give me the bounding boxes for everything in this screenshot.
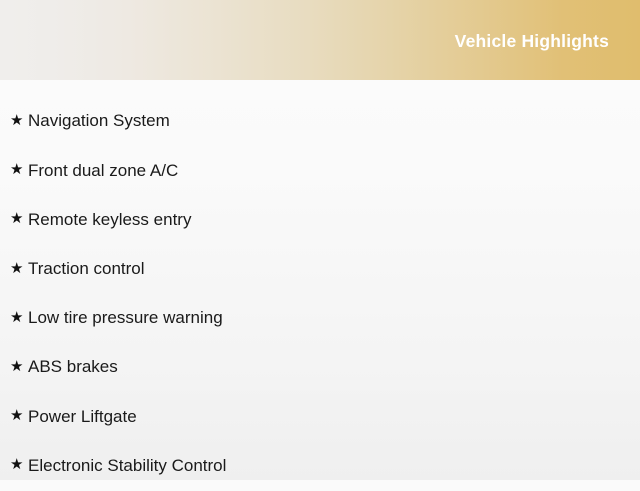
list-item: ★ Power Liftgate xyxy=(0,392,640,441)
list-item: ★ Navigation System xyxy=(0,97,640,146)
star-bullet-icon: ★ xyxy=(10,359,28,374)
list-item: ★ ABS brakes xyxy=(0,343,640,392)
list-item: ★ Low tire pressure warning xyxy=(0,294,640,343)
header-banner: Vehicle Highlights xyxy=(0,0,640,80)
list-item: ★ Traction control xyxy=(0,245,640,294)
list-item-label: Navigation System xyxy=(28,111,640,131)
star-bullet-icon: ★ xyxy=(10,261,28,276)
star-bullet-icon: ★ xyxy=(10,113,28,128)
list-item: ★ Front dual zone A/C xyxy=(0,146,640,195)
star-bullet-icon: ★ xyxy=(10,310,28,325)
list-item-label: Electronic Stability Control xyxy=(28,456,640,476)
list-item-label: Low tire pressure warning xyxy=(28,308,640,328)
list-item-label: Power Liftgate xyxy=(28,407,640,427)
list-item: ★ Electronic Stability Control xyxy=(0,441,640,490)
star-bullet-icon: ★ xyxy=(10,408,28,423)
star-bullet-icon: ★ xyxy=(10,457,28,472)
list-item-label: Front dual zone A/C xyxy=(28,161,640,181)
vehicle-highlights-list: ★ Navigation System ★ Front dual zone A/… xyxy=(0,80,640,491)
star-bullet-icon: ★ xyxy=(10,211,28,226)
list-item-label: Remote keyless entry xyxy=(28,210,640,230)
vehicle-highlights-page: Vehicle Highlights ★ Navigation System ★… xyxy=(0,0,640,480)
list-item-label: ABS brakes xyxy=(28,357,640,377)
list-item: ★ Remote keyless entry xyxy=(0,195,640,244)
list-item-label: Traction control xyxy=(28,259,640,279)
star-bullet-icon: ★ xyxy=(10,162,28,177)
page-title: Vehicle Highlights xyxy=(455,33,609,51)
